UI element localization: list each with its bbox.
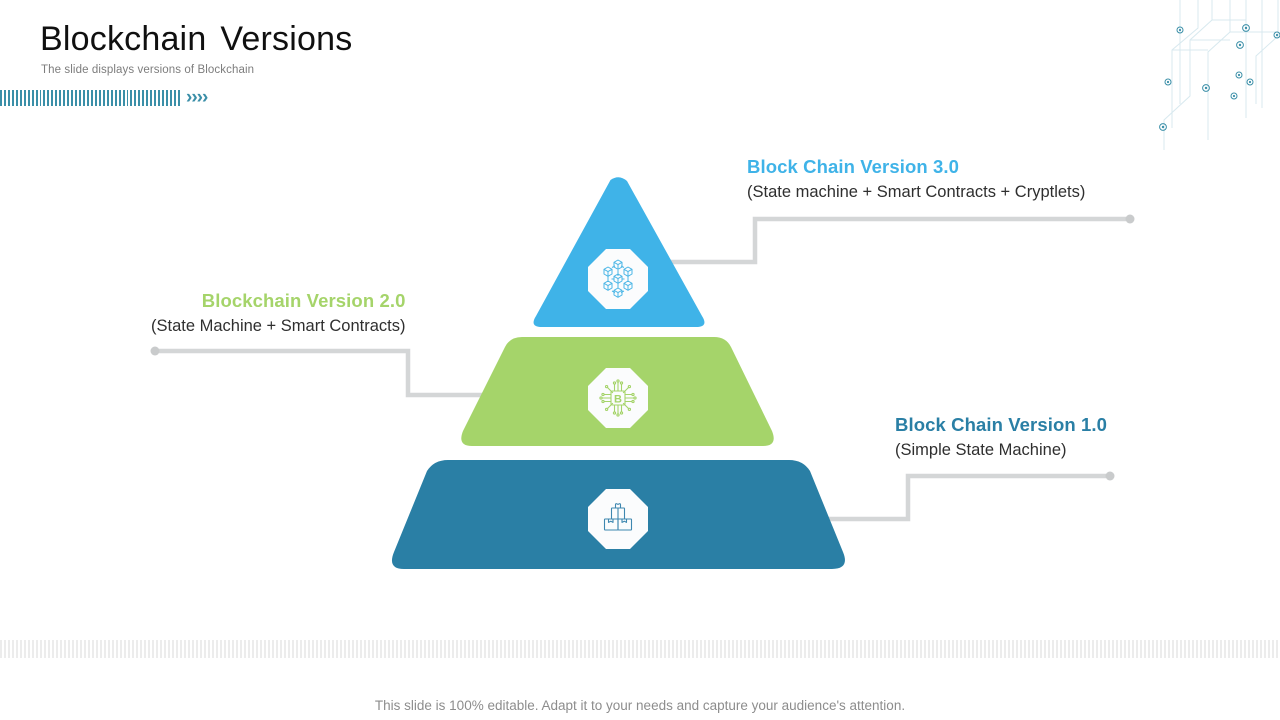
- bitcoin-chip-icon: B: [588, 368, 648, 428]
- tier-3-icon-badge[interactable]: [588, 249, 648, 309]
- page-title-word-1: Blockchain: [40, 20, 206, 58]
- label-tier-1: Block Chain Version 1.0 (Simple State Ma…: [895, 414, 1107, 461]
- connector-tier-1: [820, 476, 1106, 519]
- page-subtitle: The slide displays versions of Blockchai…: [41, 64, 254, 76]
- page-title: BlockchainVersions: [40, 20, 352, 59]
- pyramid-diagram: [0, 0, 1280, 720]
- ticker-bar-decoration: [0, 90, 180, 106]
- chevron-right-icon: ››››: [186, 88, 207, 108]
- connector-dot-tier-1: [1106, 472, 1115, 481]
- bottom-divider-decoration: [0, 640, 1280, 658]
- blockchain-network-icon: [588, 249, 648, 309]
- svg-text:B: B: [614, 394, 622, 406]
- connector-tier-2: [159, 351, 510, 395]
- tier-2-detail: (State Machine + Smart Contracts): [151, 315, 405, 337]
- stacked-blocks-icon: [588, 489, 648, 549]
- tier-3-detail: (State machine + Smart Contracts + Crypt…: [747, 181, 1085, 203]
- connector-tier-3: [660, 219, 1126, 262]
- tier-2-title: Blockchain Version 2.0: [151, 290, 405, 312]
- connector-dot-tier-2: [151, 347, 160, 356]
- tier-1-icon-badge[interactable]: [588, 489, 648, 549]
- tier-3-title: Block Chain Version 3.0: [747, 156, 1085, 178]
- label-tier-2: Blockchain Version 2.0 (State Machine + …: [151, 290, 405, 337]
- footer-note: This slide is 100% editable. Adapt it to…: [0, 698, 1280, 713]
- page-title-word-2: Versions: [220, 20, 352, 58]
- connector-dot-tier-3: [1126, 215, 1135, 224]
- label-tier-3: Block Chain Version 3.0 (State machine +…: [747, 156, 1085, 203]
- circuit-board-decoration-icon: [1150, 0, 1280, 150]
- tier-2-icon-badge[interactable]: B: [588, 368, 648, 428]
- tier-1-detail: (Simple State Machine): [895, 439, 1107, 461]
- tier-1-title: Block Chain Version 1.0: [895, 414, 1107, 436]
